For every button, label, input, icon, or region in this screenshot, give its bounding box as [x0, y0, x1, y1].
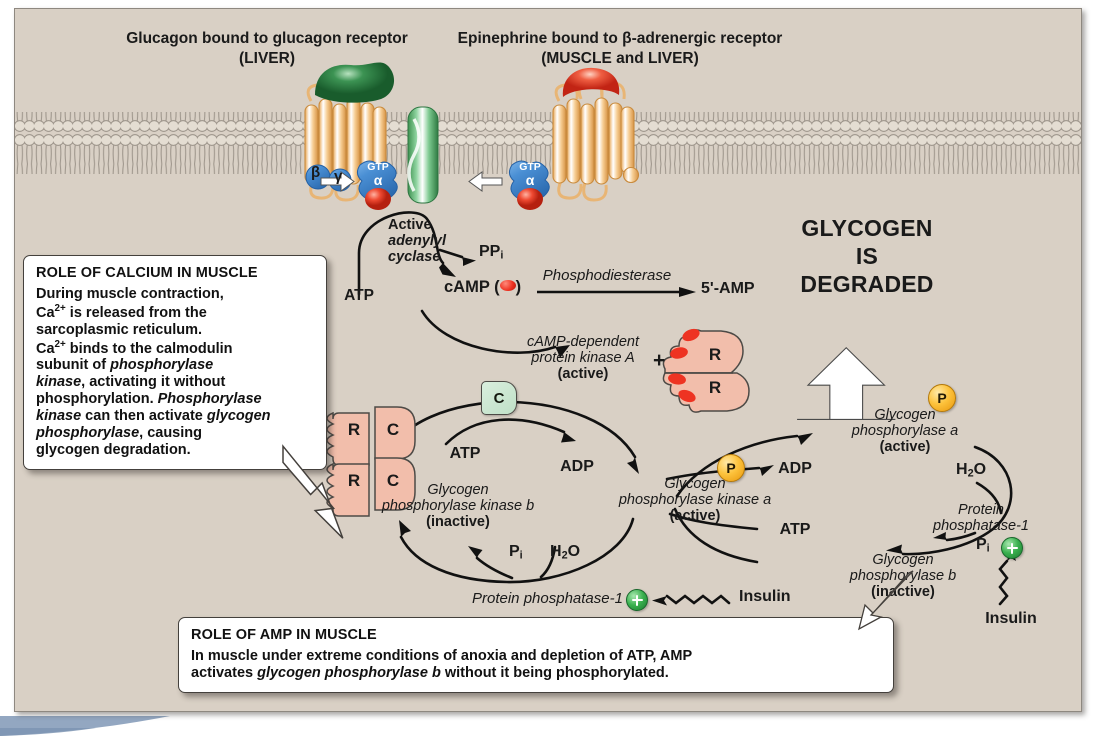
protein-phosphatase-1-right-label: Protein phosphatase-1 — [933, 502, 1029, 534]
pka-active-line1: cAMP-dependent — [527, 334, 639, 350]
phosphate-badge-kinase-label: P — [726, 460, 735, 476]
atp-substrate-label: ATP — [344, 287, 374, 304]
callout-calcium-tail — [283, 437, 443, 557]
callout-amp-body: In muscle under extreme conditions of an… — [191, 648, 881, 682]
ppi-main: PP — [479, 243, 500, 260]
phos-water-h: H — [956, 461, 968, 478]
outcome-text: GLYCOGEN IS DEGRADED — [800, 214, 933, 298]
callout-calcium-body: During muscle contraction,Ca2+ is releas… — [36, 286, 314, 459]
camp-paren-close: ) — [516, 278, 522, 296]
pka-active-state: (active) — [558, 366, 609, 382]
phos-water-o: O — [974, 461, 986, 478]
phos-pi-main: P — [976, 536, 987, 553]
gp-a-state: (active) — [880, 439, 931, 455]
kinase-atp-label: ATP — [450, 445, 481, 463]
phosphate-badge-phos-label: P — [937, 390, 946, 406]
g-gamma-label: γ — [334, 169, 342, 186]
callout-amp-tail — [805, 571, 925, 641]
phos-pi-sub: i — [987, 542, 990, 554]
adenylyl-cyclase-label: Active adenylyl cyclase — [388, 217, 446, 266]
free-r-label-1: R — [709, 345, 721, 364]
camp-red-dot-icon — [500, 280, 516, 291]
ppi-label: PPi — [479, 243, 503, 262]
phos-atp-label: ATP — [780, 521, 811, 539]
camp-label: cAMP () — [444, 278, 521, 296]
epinephrine-header-line2: (MUSCLE and LIVER) — [541, 50, 699, 67]
callout-calcium-title: ROLE OF CALCIUM IN MUSCLE — [36, 265, 314, 281]
epinephrine-header-line1: Epinephrine bound to β-adrenergic recept… — [458, 30, 783, 47]
callout-amp-title: ROLE OF AMP IN MUSCLE — [191, 627, 881, 643]
free-r-label-2: R — [709, 378, 721, 397]
g-alpha-label-right: α — [526, 173, 535, 189]
diagram-panel: Glucagon bound to glucagon receptor (LIV… — [14, 8, 1082, 712]
activation-arrow-right — [469, 172, 502, 191]
pk-a-line2: phosphorylase kinase a — [619, 492, 771, 508]
phosphate-badge-kinase: P — [717, 454, 745, 482]
phos-pi-label: Pi — [976, 536, 990, 555]
phosphate-badge-phosphorylase: P — [928, 384, 956, 412]
g-beta-label: β — [311, 165, 320, 182]
callout-calcium: ROLE OF CALCIUM IN MUSCLE During muscle … — [23, 255, 327, 470]
insulin-signal-left — [667, 596, 729, 603]
catalytic-subunit-free: C — [481, 381, 517, 415]
beta-adrenergic-receptor — [553, 82, 639, 200]
pp1-right-line1: Protein — [958, 502, 1004, 518]
pk-a-line1: Glycogen — [664, 476, 725, 492]
gp-b-line1: Glycogen — [872, 552, 933, 568]
gp-a-line2: phosphorylase a — [852, 423, 958, 439]
insulin-label-right: Insulin — [985, 610, 1037, 628]
outcome-line3: DEGRADED — [800, 271, 933, 297]
g-alpha-label-left: α — [374, 173, 383, 189]
cyclase-line2: adenylyl — [388, 233, 446, 249]
kinase-water-h: H — [550, 543, 562, 560]
glucagon-header-line2: (LIVER) — [239, 50, 295, 67]
pka-regulatory-dimer — [663, 327, 749, 413]
cyclase-line3: cyclase — [388, 249, 440, 265]
kinase-pi-label: Pi — [509, 543, 523, 562]
kinase-water-label: H2O — [550, 543, 580, 562]
pka-active-label: cAMP-dependent protein kinase A (active) — [527, 334, 639, 383]
outcome-line1: GLYCOGEN — [801, 215, 932, 241]
glucagon-header-line1: Glucagon bound to glucagon receptor — [126, 30, 408, 47]
epinephrine-header: Epinephrine bound to β-adrenergic recept… — [458, 29, 783, 69]
pka-active-line2: protein kinase A — [531, 350, 634, 366]
activator-plus-badge-right — [1001, 537, 1023, 559]
insulin-label-left: Insulin — [739, 588, 791, 606]
pp1-right-line2: phosphatase-1 — [933, 518, 1029, 534]
kinase-water-o: O — [568, 543, 580, 560]
phos-adp-label: ADP — [778, 460, 812, 478]
outcome-line2: IS — [856, 243, 878, 269]
protein-phosphatase-1-left-label: Protein phosphatase-1 — [472, 591, 623, 608]
plus-sign: + — [653, 349, 665, 373]
glycogen-phosphorylase-a-label: Glycogen phosphorylase a (active) — [852, 407, 958, 456]
cyclase-line1: Active — [388, 217, 432, 233]
adenylyl-cyclase-protein — [408, 107, 438, 203]
five-prime-amp-label: 5'-AMP — [701, 280, 755, 298]
corner-swoosh-decoration — [0, 714, 300, 738]
pk-a-state: (active) — [670, 508, 721, 524]
camp-paren-open: ( — [494, 278, 500, 296]
figure-canvas: Glucagon bound to glucagon receptor (LIV… — [0, 0, 1096, 738]
phos-water-label: H2O — [956, 461, 986, 480]
free-c-label: C — [494, 390, 505, 407]
ppi-sub: i — [500, 249, 503, 261]
kinase-adp-label: ADP — [560, 458, 594, 476]
glucagon-header: Glucagon bound to glucagon receptor (LIV… — [126, 29, 408, 69]
activator-plus-badge-left — [626, 589, 648, 611]
kinase-pi-main: P — [509, 543, 520, 560]
epinephrine-ligand — [563, 68, 619, 97]
gp-a-line1: Glycogen — [874, 407, 935, 423]
callout-amp: ROLE OF AMP IN MUSCLE In muscle under ex… — [178, 617, 894, 693]
camp-text: cAMP — [444, 278, 490, 296]
phosphorylase-kinase-a-label: Glycogen phosphorylase kinase a (active) — [619, 476, 771, 525]
insulin-signal-right — [1000, 561, 1007, 604]
kinase-pi-sub: i — [520, 549, 523, 561]
phosphodiesterase-label: Phosphodiesterase — [543, 268, 671, 285]
